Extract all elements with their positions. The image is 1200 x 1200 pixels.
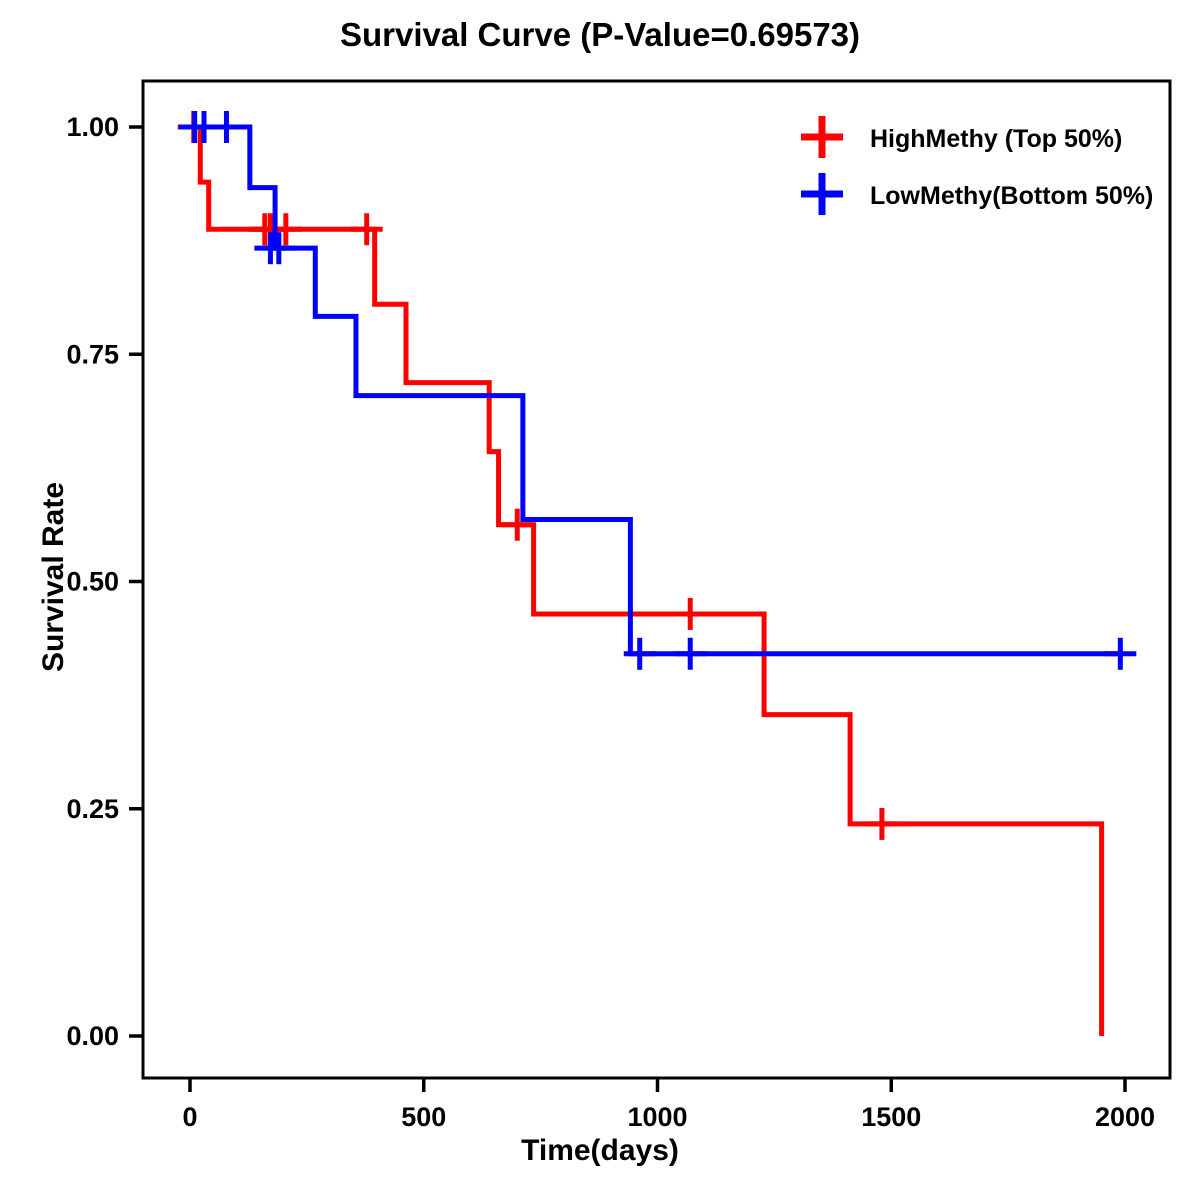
- survival-curve-figure: Survival Curve (P-Value=0.69573) 0500100…: [0, 0, 1200, 1200]
- y-tick-label: 1.00: [66, 112, 119, 142]
- y-tick-label: 0.75: [66, 339, 119, 369]
- x-axis-ticks: 0500100015002000: [182, 1078, 1155, 1132]
- y-tick-label: 0.50: [66, 567, 119, 597]
- legend-label: HighMethy (Top 50%): [870, 125, 1122, 153]
- y-tick-label: 0.00: [66, 1021, 119, 1051]
- plot-canvas: 0500100015002000 0.000.250.500.751.00 Hi…: [0, 0, 1200, 1200]
- x-tick-label: 2000: [1095, 1102, 1155, 1132]
- x-tick-label: 0: [182, 1102, 197, 1132]
- x-tick-label: 1500: [861, 1102, 921, 1132]
- y-axis-ticks: 0.000.250.500.751.00: [66, 112, 143, 1051]
- legend-label: LowMethy(Bottom 50%): [870, 182, 1153, 210]
- x-tick-label: 1000: [627, 1102, 687, 1132]
- y-axis-label: Survival Rate: [37, 427, 71, 727]
- y-tick-label: 0.25: [66, 794, 119, 824]
- x-axis-label: Time(days): [0, 1134, 1200, 1168]
- x-tick-label: 500: [401, 1102, 446, 1132]
